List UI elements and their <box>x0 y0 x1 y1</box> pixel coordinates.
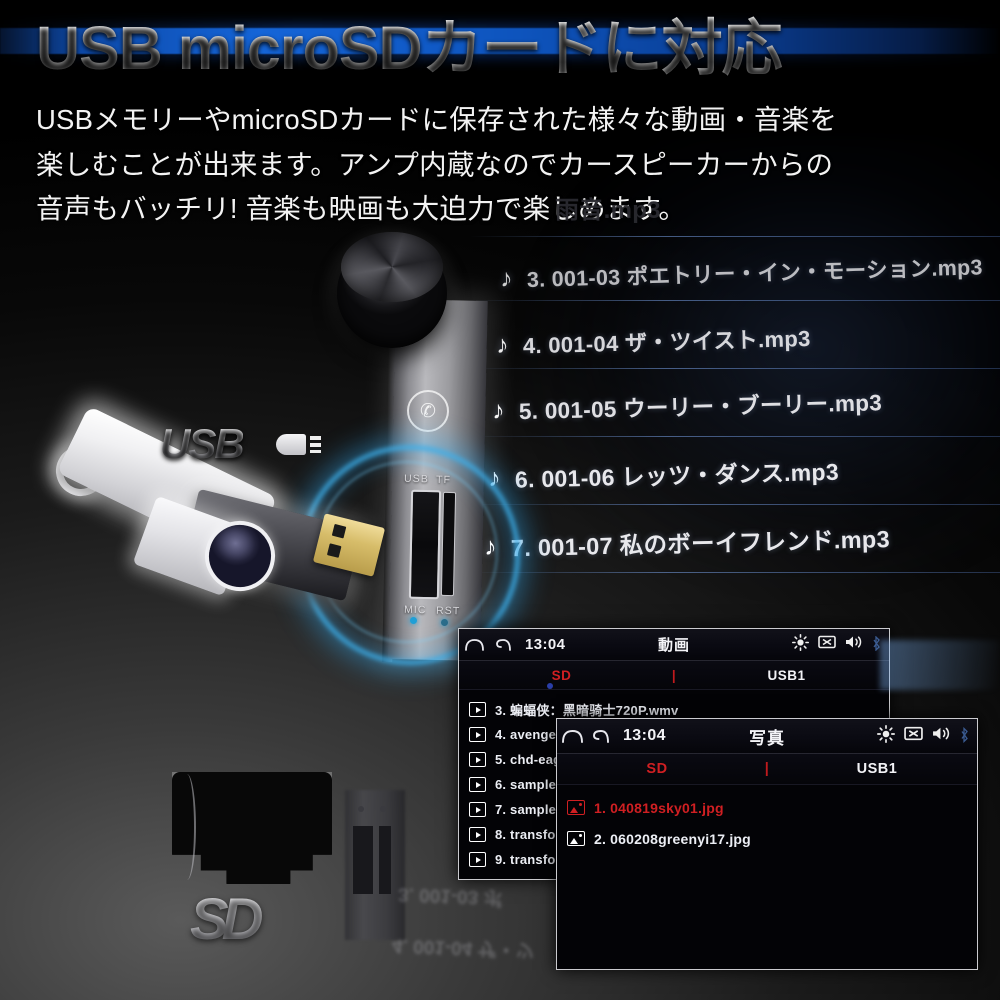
clock: 13:04 <box>623 727 666 745</box>
photo-panel-statusbar: 13:04 写真 <box>557 719 977 754</box>
clock: 13:04 <box>525 636 565 653</box>
track-item: 雨音.mp3 <box>555 190 661 225</box>
screen-off-icon[interactable] <box>904 726 923 746</box>
reset-hole <box>441 619 448 626</box>
rst-label: RST <box>436 605 461 618</box>
track-item: ♪ 3. 001-03 ポエトリー・イン・モーション.mp3 <box>500 250 983 294</box>
panel-edge-glow <box>880 640 1000 690</box>
video-file-name: 3. 蝙蝠侠：黑暗骑士720P.wmv <box>495 700 678 719</box>
tab-usb1[interactable]: USB1 <box>684 668 889 683</box>
mic-hole <box>410 617 417 624</box>
photo-panel-status-icons <box>877 725 977 748</box>
video-file-icon <box>469 852 486 867</box>
track-label: 3. 001-03 ポエトリー・イン・モーション.mp3 <box>526 250 983 294</box>
video-file-icon <box>469 777 486 792</box>
sd-logo: SD <box>190 886 330 946</box>
lead-line-1: USBメモリーやmicroSDカードに保存された様々な動画・音楽を <box>36 98 826 143</box>
card-reader-slot-2 <box>379 826 391 894</box>
back-icon[interactable] <box>587 729 617 744</box>
photo-list-item[interactable]: 1. 040819sky01.jpg <box>567 792 977 823</box>
mic-label: MIC <box>404 604 427 616</box>
track-label: 7. 001-07 私のボーイフレンド.mp3 <box>510 520 890 563</box>
home-icon[interactable] <box>459 638 489 651</box>
volume-icon[interactable] <box>845 635 863 654</box>
track-label: 6. 001-06 レッツ・ダンス.mp3 <box>514 453 839 495</box>
track-item: ♪ 5. 001-05 ウーリー・ブーリー.mp3 <box>492 385 883 427</box>
video-panel-status-icons <box>792 634 889 656</box>
video-file-icon <box>469 702 486 717</box>
tf-port-label: TF <box>436 474 451 486</box>
photo-list-item[interactable]: 2. 060208greenyi17.jpg <box>567 823 977 854</box>
promo-banner: USB microSDカードに対応 USB microSDカードに対応 USBメ… <box>0 0 1000 1000</box>
card-reader-led <box>380 806 386 812</box>
lead-line-2: 楽しむことが出来ます。アンプ内蔵なのでカースピーカーからの <box>36 143 826 188</box>
video-file-icon <box>469 802 486 817</box>
track-item: ♪ 6. 001-06 レッツ・ダンス.mp3 <box>488 453 840 496</box>
video-file-icon <box>469 827 486 842</box>
track-item: ♪ 7. 001-07 私のボーイフレンド.mp3 <box>484 520 891 564</box>
track-item: ♪ 4. 001-04 ザ・ツイスト.mp3 <box>496 321 811 361</box>
photo-source-tabs[interactable]: SD | USB1 <box>557 754 977 785</box>
card-reader-slot <box>353 826 373 894</box>
screen-off-icon[interactable] <box>818 635 836 654</box>
home-icon[interactable] <box>557 729 587 743</box>
video-file-icon <box>469 727 486 742</box>
image-file-icon <box>567 831 585 846</box>
brightness-icon[interactable] <box>877 725 895 748</box>
tab-separator: | <box>664 668 684 683</box>
brightness-icon[interactable] <box>792 634 809 656</box>
usb-logo: USB <box>160 420 340 468</box>
photo-viewer-panel[interactable]: 13:04 写真 SD | USB1 <box>556 718 978 970</box>
tab-usb1[interactable]: USB1 <box>777 761 977 777</box>
tab-separator: | <box>757 761 777 777</box>
photo-file-name: 2. 060208greenyi17.jpg <box>594 831 751 847</box>
usb-port-label: USB <box>404 473 429 486</box>
track-label: 5. 001-05 ウーリー・ブーリー.mp3 <box>518 385 882 426</box>
track-label: 雨音.mp3 <box>555 190 661 225</box>
volume-knob-top <box>341 232 443 302</box>
tf-card-slot <box>441 492 456 596</box>
video-panel-statusbar: 13:04 動画 <box>459 629 889 661</box>
photo-file-name: 1. 040819sky01.jpg <box>594 800 724 816</box>
usb-logo-plug-icon <box>276 434 306 455</box>
back-icon[interactable] <box>489 638 519 652</box>
track-label: 4. 001-04 ザ・ツイスト.mp3 <box>522 321 811 361</box>
music-note-icon: ♪ <box>496 332 509 357</box>
video-source-tabs[interactable]: SD | USB1 <box>459 661 889 690</box>
volume-icon[interactable] <box>932 726 951 746</box>
tab-active-indicator <box>547 683 553 689</box>
tab-sd[interactable]: SD <box>459 668 664 683</box>
card-reader-led <box>358 806 364 812</box>
video-file-icon <box>469 752 486 767</box>
music-note-icon: ♪ <box>492 398 505 423</box>
reflection-text: 3. 001-03 ポ <box>398 882 503 913</box>
reflection-text: 4. 001-04 ザ・ツ <box>392 934 535 966</box>
usb-port <box>409 490 441 600</box>
bluetooth-icon <box>960 727 969 746</box>
music-track-list: 雨音.mp3 ♪ 3. 001-03 ポエトリー・イン・モーション.mp3 ♪ … <box>470 185 1000 625</box>
music-note-icon: ♪ <box>500 266 514 291</box>
photo-file-list[interactable]: 1. 040819sky01.jpg 2. 060208greenyi17.jp… <box>557 785 977 854</box>
image-file-icon <box>567 800 585 815</box>
tab-sd[interactable]: SD <box>557 761 757 777</box>
usb-logo-text: USB <box>160 420 243 467</box>
microsd-card-notch <box>178 774 196 880</box>
page-title: USB microSDカードに対応 <box>36 16 956 80</box>
usb-logo-pins-icon <box>310 436 321 453</box>
